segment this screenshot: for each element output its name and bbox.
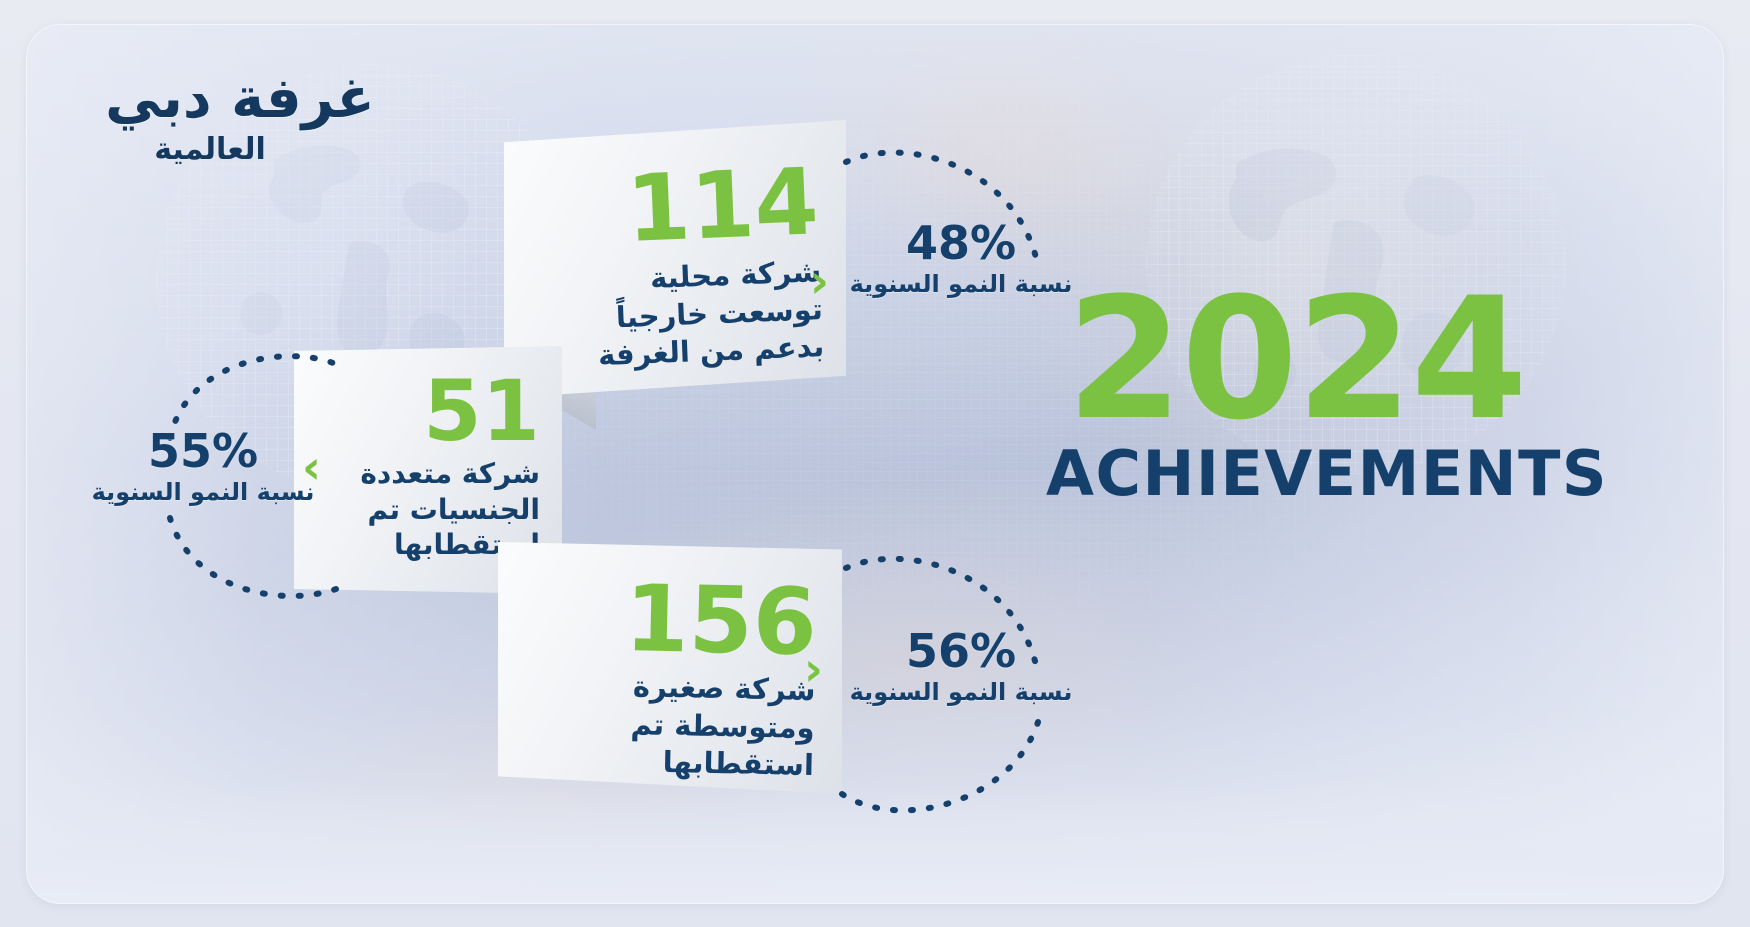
growth-value-56: 56%: [846, 628, 1076, 674]
growth-annotation-56: 56% نسبة النمو السنوية: [846, 628, 1076, 707]
growth-annotation-48: 48% نسبة النمو السنوية: [846, 220, 1076, 299]
stat-card-114-description: شركة محلية توسعت خارجياً بدعم من الغرفة: [545, 254, 825, 376]
bottom-fade: [26, 784, 1724, 904]
growth-caption-48: نسبة النمو السنوية: [846, 271, 1076, 299]
chevron-left-icon-156: ‹: [804, 646, 823, 692]
infographic-stage: غرفة دبي العالمية 2024 ACHIEVEMENTS 114: [0, 0, 1750, 927]
stat-card-114-number: 114: [541, 158, 820, 256]
dubai-chambers-logo: غرفة دبي العالمية: [50, 68, 430, 168]
stat-card-51-number: 51: [312, 372, 540, 452]
logo-line2: العالمية: [50, 132, 430, 168]
stat-card-156-number: 156: [534, 573, 818, 666]
logo-line1: غرفة دبي: [105, 66, 375, 131]
growth-value-55: 55%: [88, 428, 318, 474]
stat-card-156-description: شركة صغيرة ومتوسطة تم استقطابها: [532, 667, 816, 784]
growth-caption-55: نسبة النمو السنوية: [88, 479, 318, 507]
title-word: ACHIEVEMENTS: [1046, 443, 1546, 505]
stat-card-114-body: 114 شركة محلية توسعت خارجياً بدعم من الغ…: [499, 113, 851, 377]
stat-card-156[interactable]: 156 شركة صغيرة ومتوسطة تم استقطابها: [498, 542, 842, 794]
logo-arabic-wordmark: غرفة دبي: [50, 68, 430, 130]
title-year: 2024: [1046, 282, 1546, 437]
stat-card-156-body: 156 شركة صغيرة ومتوسطة تم استقطابها: [496, 538, 845, 784]
stat-card-51-body: 51 شركة متعددة الجنسيات تم استقطابها: [294, 346, 562, 563]
growth-annotation-55: 55% نسبة النمو السنوية: [88, 428, 318, 507]
page-title: 2024 ACHIEVEMENTS: [1046, 282, 1546, 505]
growth-value-48: 48%: [846, 220, 1076, 266]
chevron-left-icon-114: ‹: [810, 258, 829, 304]
growth-caption-56: نسبة النمو السنوية: [846, 679, 1076, 707]
infographic-panel: غرفة دبي العالمية 2024 ACHIEVEMENTS 114: [26, 24, 1724, 904]
